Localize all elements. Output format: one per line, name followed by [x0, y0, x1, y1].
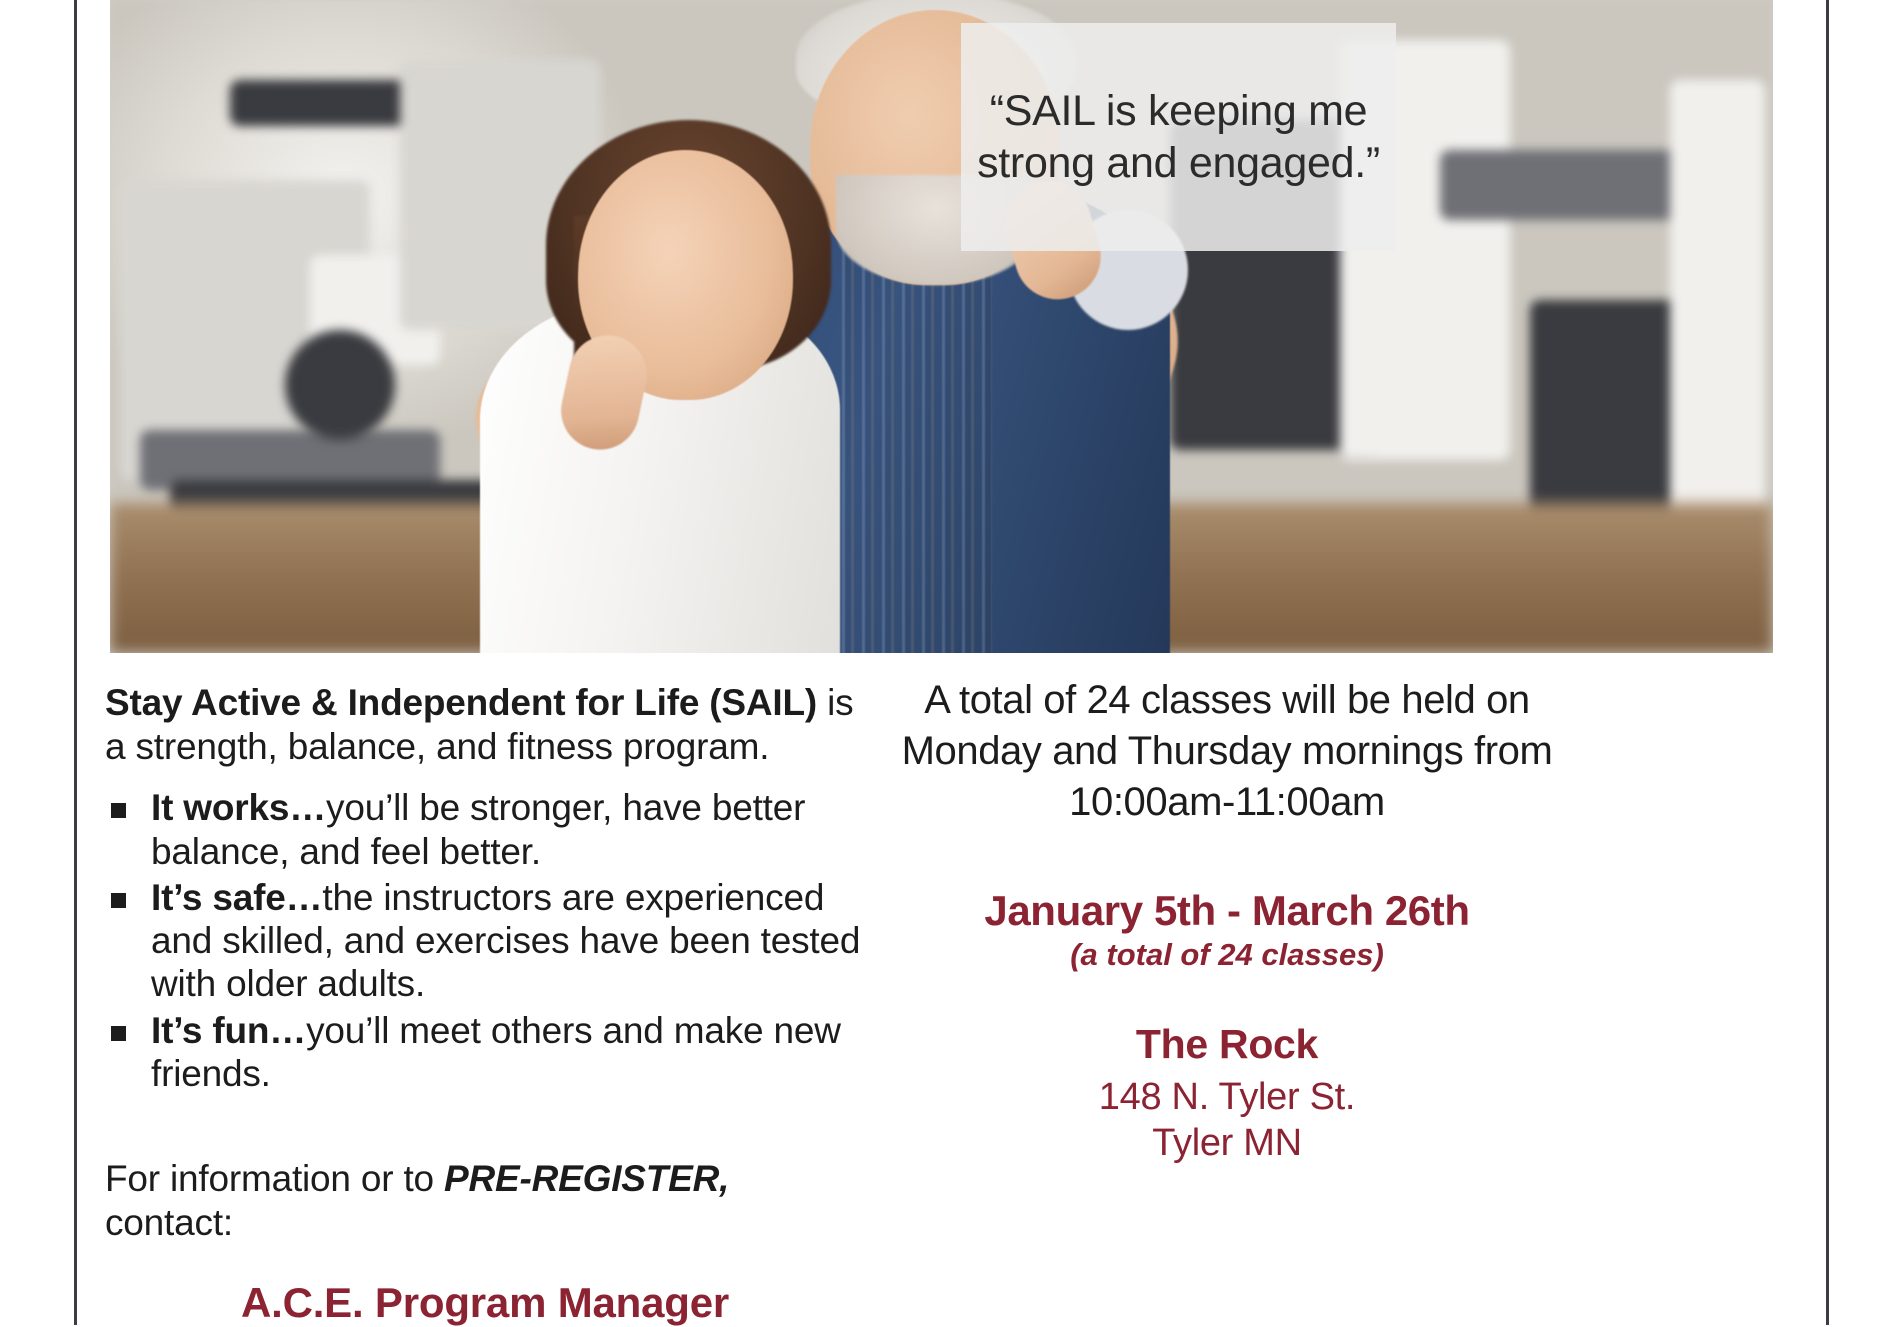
testimonial-quote-box: “SAIL is keeping me strong and engaged.” [961, 23, 1396, 251]
gym-weight-plate-icon [285, 330, 395, 440]
benefit-label: It’s safe… [151, 877, 322, 918]
class-count-note: (a total of 24 classes) [877, 937, 1577, 973]
class-schedule: A total of 24 classes will be held on Mo… [877, 675, 1577, 829]
hero-photo: “SAIL is keeping me strong and engaged.” [110, 0, 1773, 653]
benefit-label: It works… [151, 787, 326, 828]
program-name: Stay Active & Independent for Life (SAIL… [105, 682, 817, 723]
address-line-2: Tyler MN [877, 1120, 1577, 1166]
list-item: It works…you’ll be stronger, have better… [105, 786, 865, 873]
benefits-list: It works…you’ll be stronger, have better… [105, 786, 865, 1095]
square-bullet-icon [111, 1026, 126, 1041]
address-line-1: 148 N. Tyler St. [877, 1074, 1577, 1120]
venue-name: The Rock [877, 1021, 1577, 1068]
venue-address: 148 N. Tyler St. Tyler MN [877, 1074, 1577, 1167]
pre-register-line: For information or to PRE-REGISTER, cont… [105, 1157, 865, 1244]
square-bullet-icon [111, 893, 126, 908]
left-column: Stay Active & Independent for Life (SAIL… [105, 681, 865, 1327]
pre-register-emphasis: PRE-REGISTER, [444, 1158, 729, 1199]
date-range: January 5th - March 26th [877, 887, 1577, 935]
benefit-label: It’s fun… [151, 1010, 306, 1051]
list-item: It’s safe…the instructors are experience… [105, 876, 865, 1006]
list-item: It’s fun…you’ll meet others and make new… [105, 1009, 865, 1096]
square-bullet-icon [111, 803, 126, 818]
flyer-page: “SAIL is keeping me strong and engaged.”… [77, 0, 1826, 1325]
gym-machine-icon [1670, 80, 1765, 550]
testimonial-quote-text: “SAIL is keeping me strong and engaged.” [961, 85, 1396, 190]
pre-register-after: contact: [105, 1202, 233, 1243]
contact-role: A.C.E. Program Manager [105, 1279, 865, 1327]
pre-register-before: For information or to [105, 1158, 444, 1199]
page-border-right [1826, 0, 1829, 1325]
right-column: A total of 24 classes will be held on Mo… [877, 675, 1577, 1166]
program-description: Stay Active & Independent for Life (SAIL… [105, 681, 865, 768]
